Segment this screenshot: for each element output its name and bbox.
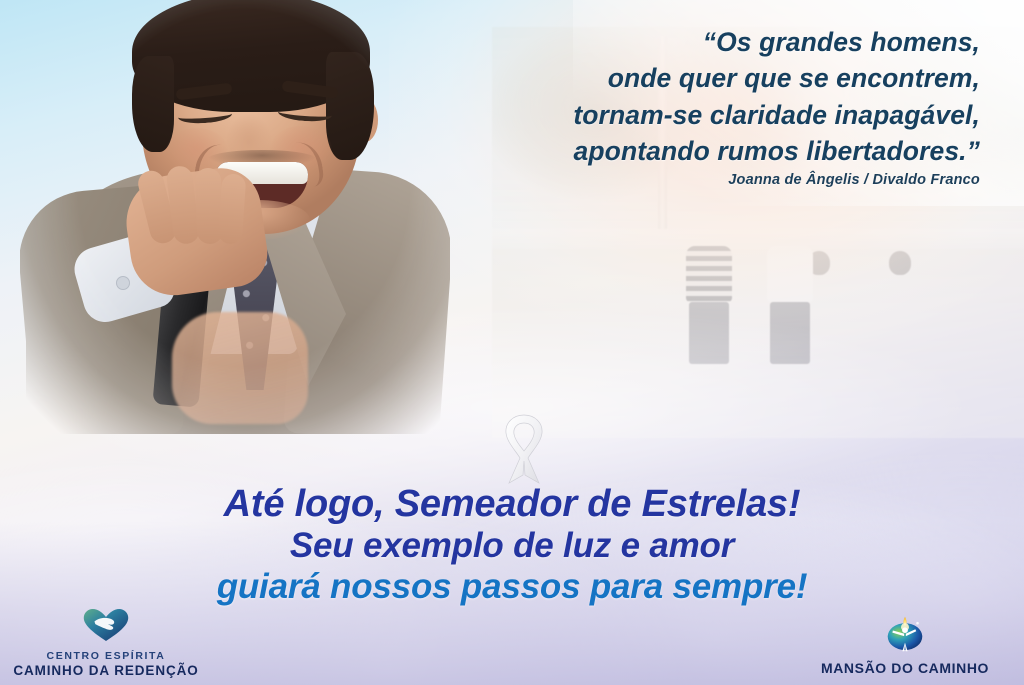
globe-figure-flame-icon [800, 615, 1010, 658]
white-ribbon-icon [489, 409, 559, 489]
headline-line-1: Até logo, Semeador de Estrelas! [0, 484, 1024, 525]
headline-line-3: guiará nossos passos para sempre! [0, 566, 1024, 607]
quote-attribution: Joanna de Ângelis / Divaldo Franco [420, 172, 980, 188]
headline-line-2: Seu exemplo de luz e amor [0, 525, 1024, 566]
portrait-photo [20, 0, 450, 434]
logo-left-line-2: CAMINHO DA REDENÇÃO [8, 663, 204, 679]
hand-holding-microphone [172, 312, 308, 424]
logo-left-line-1: CENTRO ESPÍRITA [8, 650, 204, 663]
logo-centro-espirita: CENTRO ESPÍRITA CAMINHO DA REDENÇÃO [8, 607, 204, 679]
logo-right-line-1: MANSÃO DO CAMINHO [800, 660, 1010, 677]
quote-line-4: apontando rumos libertadores.” [420, 133, 980, 169]
headline-block: Até logo, Semeador de Estrelas! Seu exem… [0, 484, 1024, 608]
heart-hands-icon [8, 607, 204, 648]
quote-line-3: tornam-se claridade inapagável, [420, 97, 980, 133]
memorial-poster: “Os grandes homens, onde quer que se enc… [0, 0, 1024, 685]
quote-text: “Os grandes homens, onde quer que se enc… [420, 24, 980, 169]
logo-mansao-do-caminho: MANSÃO DO CAMINHO [800, 615, 1010, 677]
quote-line-2: onde quer que se encontrem, [420, 60, 980, 96]
quote-line-1: “Os grandes homens, [420, 24, 980, 60]
